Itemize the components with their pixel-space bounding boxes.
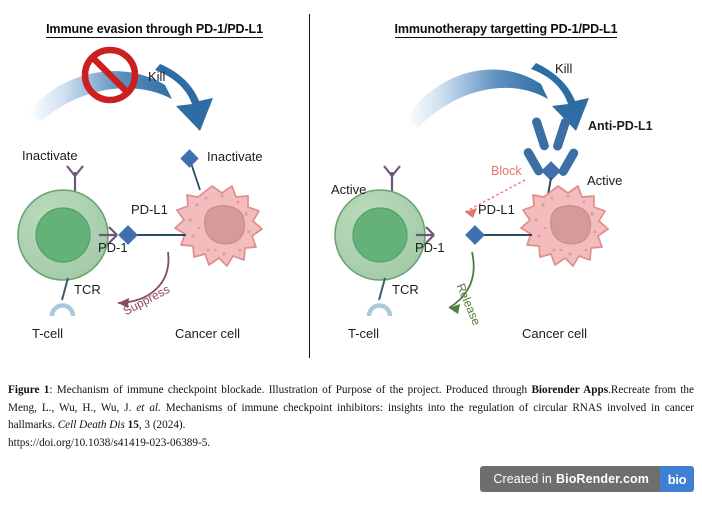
biorender-badge[interactable]: Created inBioRender.com bio <box>480 466 694 492</box>
panel-left-graphics <box>0 0 309 372</box>
cancer-surface-ligand-icon <box>180 149 200 190</box>
tcell-name-right: T-cell <box>348 327 379 340</box>
figure-caption: Figure 1: Mechanism of immune checkpoint… <box>8 382 694 435</box>
tcr-receptor-icon <box>369 278 390 316</box>
biorender-brand: BioRender.com <box>556 472 649 486</box>
biorender-logo-icon: bio <box>660 466 694 492</box>
caption-volume: 15 <box>125 419 139 431</box>
cancer-state-label-left: Inactivate <box>207 150 263 163</box>
pd1-label-left: PD-1 <box>98 241 128 254</box>
panel-right-graphics <box>310 0 702 372</box>
caption-journal: Cell Death Dis <box>58 419 125 431</box>
tcell-state-label-left: Inactivate <box>22 149 78 162</box>
pdl1-label-right: PD-L1 <box>478 203 515 216</box>
caption-body-1: : Mechanism of immune checkpoint blockad… <box>49 384 531 396</box>
cancer-state-label-right: Active <box>587 174 622 187</box>
panel-immune-evasion: Immune evasion through PD-1/PD-L1 <box>0 0 309 372</box>
pd1-label-right: PD-1 <box>415 241 445 254</box>
anti-pdl1-label: Anti-PD-L1 <box>588 120 653 133</box>
biorender-created-in: Created in <box>493 472 552 486</box>
tcr-receptor-icon <box>52 278 73 316</box>
figure-illustration: Immune evasion through PD-1/PD-L1 <box>0 0 702 372</box>
caption-doi-link[interactable]: https://doi.org/10.1038/s41419-023-06389… <box>8 437 210 449</box>
tcr-label-left: TCR <box>74 283 101 296</box>
kill-label-right: Kill <box>555 62 572 75</box>
panel-immunotherapy: Immunotherapy targetting PD-1/PD-L1 <box>310 0 702 372</box>
caption-bold-biorender: Biorender Apps <box>531 384 608 396</box>
tcr-label-right: TCR <box>392 283 419 296</box>
tcell-name-left: T-cell <box>32 327 63 340</box>
tcell-state-label-right: Active <box>331 183 366 196</box>
cancer-name-left: Cancer cell <box>175 327 240 340</box>
cancer-name-right: Cancer cell <box>522 327 587 340</box>
kill-label-left: Kill <box>148 70 165 83</box>
caption-etal: et al. <box>131 402 160 414</box>
block-label: Block <box>491 165 522 178</box>
caption-figure-number: Figure 1 <box>8 384 49 396</box>
caption-body-4: , 3 (2024). <box>139 419 186 431</box>
cancer-cell-graphic <box>465 186 608 266</box>
pdl1-label-left: PD-L1 <box>131 203 168 216</box>
biorender-badge-text: Created inBioRender.com <box>480 466 660 492</box>
